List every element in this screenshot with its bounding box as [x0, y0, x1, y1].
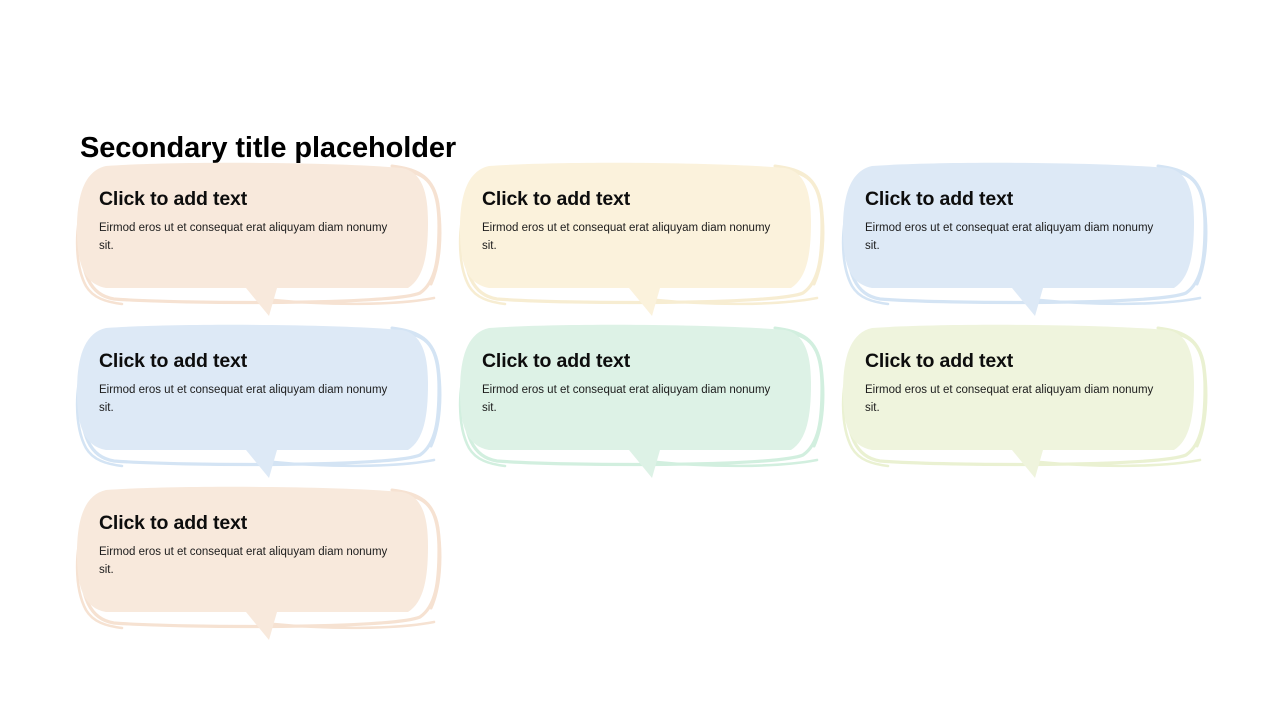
card-heading[interactable]: Click to add text: [99, 349, 399, 373]
speech-bubble-content: Click to add textEirmod eros ut et conse…: [482, 187, 782, 255]
card-body-text[interactable]: Eirmod eros ut et consequat erat aliquya…: [865, 220, 1157, 255]
sketch-outline-bottom-sweep: [274, 460, 434, 466]
speech-bubble-content: Click to add textEirmod eros ut et conse…: [99, 511, 399, 579]
speech-bubble-card[interactable]: Click to add textEirmod eros ut et conse…: [62, 484, 445, 649]
card-body-text[interactable]: Eirmod eros ut et consequat erat aliquya…: [99, 544, 391, 579]
speech-bubble-card[interactable]: Click to add textEirmod eros ut et conse…: [62, 322, 445, 487]
sketch-outline-right-pass: [775, 328, 823, 446]
speech-bubble-card[interactable]: Click to add textEirmod eros ut et conse…: [62, 160, 445, 325]
sketch-outline-right-pass: [392, 166, 440, 284]
speech-bubble-content: Click to add textEirmod eros ut et conse…: [99, 349, 399, 417]
sketch-outline-bottom-sweep: [274, 298, 434, 304]
card-body-text[interactable]: Eirmod eros ut et consequat erat aliquya…: [865, 382, 1157, 417]
speech-bubble-content: Click to add textEirmod eros ut et conse…: [865, 349, 1165, 417]
card-heading[interactable]: Click to add text: [99, 187, 399, 211]
speech-bubble-content: Click to add textEirmod eros ut et conse…: [865, 187, 1165, 255]
sketch-outline-right-pass: [392, 490, 440, 608]
sketch-outline-right-pass: [392, 328, 440, 446]
sketch-outline-bottom-sweep: [1040, 460, 1200, 466]
card-body-text[interactable]: Eirmod eros ut et consequat erat aliquya…: [482, 382, 774, 417]
card-body-text[interactable]: Eirmod eros ut et consequat erat aliquya…: [99, 220, 391, 255]
card-heading[interactable]: Click to add text: [482, 187, 782, 211]
card-heading[interactable]: Click to add text: [865, 187, 1165, 211]
speech-bubble-card[interactable]: Click to add textEirmod eros ut et conse…: [828, 322, 1211, 487]
card-body-text[interactable]: Eirmod eros ut et consequat erat aliquya…: [99, 382, 391, 417]
sketch-outline-right-pass: [1158, 166, 1206, 284]
sketch-outline-bottom-sweep: [274, 622, 434, 628]
card-heading[interactable]: Click to add text: [99, 511, 399, 535]
speech-bubble-content: Click to add textEirmod eros ut et conse…: [99, 187, 399, 255]
sketch-outline-bottom-sweep: [1040, 298, 1200, 304]
speech-bubble-card[interactable]: Click to add textEirmod eros ut et conse…: [445, 160, 828, 325]
slide-canvas: Secondary title placeholder Click to add…: [0, 0, 1280, 720]
card-heading[interactable]: Click to add text: [482, 349, 782, 373]
speech-bubble-card[interactable]: Click to add textEirmod eros ut et conse…: [828, 160, 1211, 325]
sketch-outline-bottom-sweep: [657, 298, 817, 304]
speech-bubble-grid: Click to add textEirmod eros ut et conse…: [62, 160, 1242, 670]
card-body-text[interactable]: Eirmod eros ut et consequat erat aliquya…: [482, 220, 774, 255]
sketch-outline-right-pass: [1158, 328, 1206, 446]
sketch-outline-bottom-sweep: [657, 460, 817, 466]
sketch-outline-right-pass: [775, 166, 823, 284]
card-heading[interactable]: Click to add text: [865, 349, 1165, 373]
speech-bubble-card[interactable]: Click to add textEirmod eros ut et conse…: [445, 322, 828, 487]
speech-bubble-content: Click to add textEirmod eros ut et conse…: [482, 349, 782, 417]
